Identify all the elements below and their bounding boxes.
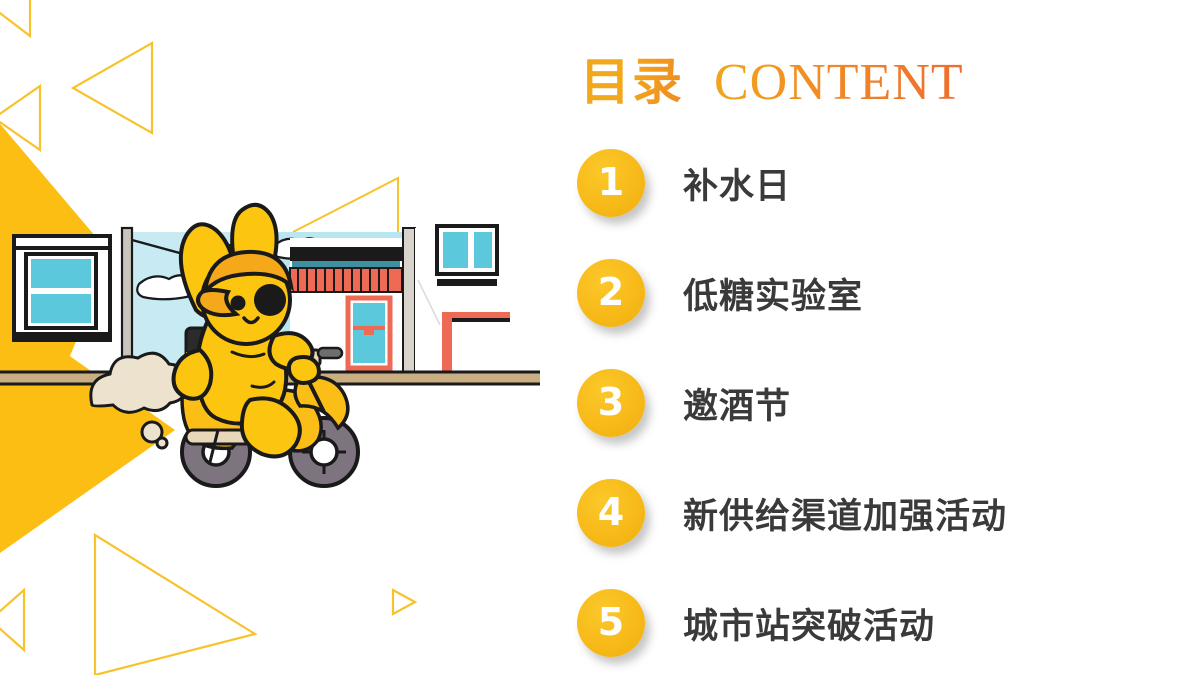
content-column: 目录 CONTENT 1 补水日 2 低糖实验室 3 邀酒节: [555, 0, 1200, 675]
page-title-en: CONTENT: [714, 53, 964, 112]
scooter-mirror-grip: [318, 348, 342, 358]
toc-label-3: 邀酒节: [683, 378, 791, 429]
decorative-triangle-outlines-top: [0, 0, 152, 150]
right-doorway: [442, 312, 510, 380]
page-title: 目录 CONTENT: [580, 42, 964, 114]
left-house-window: [14, 236, 110, 340]
rabbit-paw: [289, 357, 319, 383]
toc-bullet-2[interactable]: 2: [577, 259, 645, 327]
toc-label-5: 城市站突破活动: [683, 598, 935, 649]
toc-bullet-3[interactable]: 3: [577, 369, 645, 437]
building-divider-post: [403, 228, 415, 380]
slide-canvas: 目录 CONTENT 1 补水日 2 低糖实验室 3 邀酒节: [0, 0, 1200, 675]
toc-label-4: 新供给渠道加强活动: [683, 488, 1007, 539]
toc-number-2: 2: [598, 273, 624, 311]
toc-label-1: 补水日: [683, 158, 791, 209]
toc-item-5[interactable]: 5 城市站突破活动: [555, 568, 1200, 675]
toc-number-5: 5: [598, 603, 624, 641]
toc-number-4: 4: [598, 493, 624, 531]
table-of-contents-list: 1 补水日 2 低糖实验室 3 邀酒节 4 新供给渠道加强活: [555, 128, 1200, 675]
toc-number-3: 3: [598, 383, 624, 421]
toc-label-2: 低糖实验室: [683, 268, 863, 319]
page-title-cn: 目录: [580, 42, 684, 114]
toc-item-1[interactable]: 1 补水日: [555, 128, 1200, 238]
shop-window-red: [348, 298, 390, 368]
illustration-panel: [0, 0, 540, 675]
right-facade: [415, 226, 540, 380]
thin-yellow-roofline: [293, 178, 398, 236]
delivery-rabbit-scooter-illustration: [0, 0, 540, 675]
toc-item-4[interactable]: 4 新供给渠道加强活动: [555, 458, 1200, 568]
rabbit-eye-patch-right: [254, 284, 286, 316]
decorative-triangle-outlines-bottom: [0, 535, 415, 675]
toc-number-1: 1: [598, 163, 624, 201]
toc-bullet-5[interactable]: 5: [577, 589, 645, 657]
toc-item-2[interactable]: 2 低糖实验室: [555, 238, 1200, 348]
awning-teal-strip: [292, 261, 400, 268]
awning-stripes: [290, 268, 402, 292]
toc-bullet-1[interactable]: 1: [577, 149, 645, 217]
toc-item-3[interactable]: 3 邀酒节: [555, 348, 1200, 458]
awning-top-bar: [290, 247, 402, 261]
rabbit-eye-left: [231, 296, 246, 311]
toc-bullet-4[interactable]: 4: [577, 479, 645, 547]
